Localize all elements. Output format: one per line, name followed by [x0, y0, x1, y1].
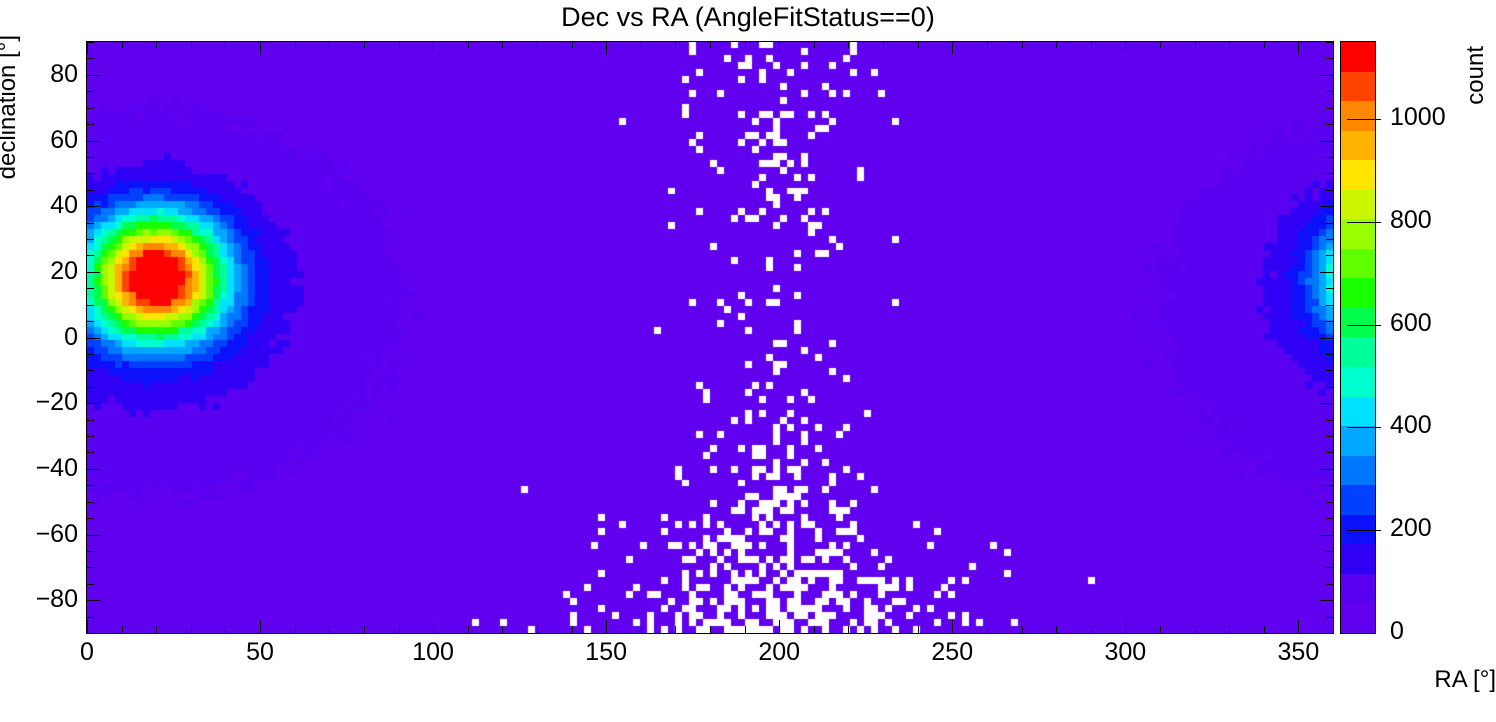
page-title: Dec vs RA (AngleFitStatus==0)	[0, 2, 1496, 33]
x-tick-minor	[1022, 626, 1023, 633]
y-tick-minor	[87, 255, 94, 256]
y-tick-minor-right	[1326, 223, 1333, 224]
y-tick-major-right	[1320, 338, 1333, 339]
x-tick-minor-top	[572, 41, 573, 48]
y-tick-minor-right	[1326, 288, 1333, 289]
y-tick-label: 60	[8, 126, 78, 155]
y-tick-minor-right	[1326, 518, 1333, 519]
y-tick-minor	[87, 420, 94, 421]
y-tick-minor	[87, 124, 94, 125]
colorbar-band	[1341, 160, 1375, 190]
colorbar-tick-label: 1000	[1390, 103, 1446, 132]
colorbar-tick	[1347, 119, 1381, 120]
y-tick-minor	[87, 108, 94, 109]
y-tick-major-right	[1320, 75, 1333, 76]
y-tick-minor	[87, 567, 94, 568]
x-tick-label: 250	[902, 638, 1002, 667]
x-tick-minor-top	[814, 41, 815, 48]
colorbar-tick-label: 400	[1390, 411, 1432, 440]
y-tick-minor	[87, 157, 94, 158]
x-tick-minor	[122, 626, 123, 633]
y-tick-minor	[87, 239, 94, 240]
x-tick-minor-top	[1333, 41, 1334, 48]
x-tick-minor-top	[1022, 41, 1023, 48]
x-tick-minor	[1056, 626, 1057, 633]
x-tick-major	[1125, 620, 1126, 633]
x-tick-minor	[468, 626, 469, 633]
colorbar-tick-label: 800	[1390, 206, 1432, 235]
x-tick-minor-top	[122, 41, 123, 48]
x-tick-label: 350	[1248, 638, 1348, 667]
y-tick-minor-right	[1326, 387, 1333, 388]
x-tick-minor	[918, 626, 919, 633]
y-tick-minor-right	[1326, 173, 1333, 174]
y-tick-label: −80	[8, 585, 78, 614]
y-tick-minor-right	[1326, 584, 1333, 585]
y-tick-minor-right	[1326, 91, 1333, 92]
x-tick-minor-top	[675, 41, 676, 48]
y-tick-minor	[87, 452, 94, 453]
y-tick-minor-right	[1326, 502, 1333, 503]
y-tick-minor	[87, 584, 94, 585]
x-tick-major-top	[433, 41, 434, 54]
x-tick-minor-top	[468, 41, 469, 48]
x-tick-minor-top	[641, 41, 642, 48]
y-tick-minor	[87, 190, 94, 191]
x-tick-label: 50	[210, 638, 310, 667]
y-tick-label: −40	[8, 454, 78, 483]
y-tick-minor	[87, 617, 94, 618]
x-tick-minor	[814, 626, 815, 633]
x-tick-major-top	[606, 41, 607, 54]
x-tick-minor-top	[918, 41, 919, 48]
x-axis-title: RA [°]	[162, 666, 1496, 694]
colorbar-band	[1341, 308, 1375, 338]
x-tick-major	[779, 620, 780, 633]
x-tick-minor-top	[1091, 41, 1092, 48]
y-tick-minor-right	[1326, 108, 1333, 109]
colorbar-band	[1341, 278, 1375, 308]
colorbar-tick-label: 600	[1390, 309, 1432, 338]
x-tick-major	[952, 620, 953, 633]
x-tick-minor	[1091, 626, 1092, 633]
x-tick-minor-top	[156, 41, 157, 48]
x-tick-minor-top	[191, 41, 192, 48]
x-tick-minor-top	[225, 41, 226, 48]
y-tick-minor	[87, 502, 94, 503]
colorbar-tick	[1347, 325, 1381, 326]
x-tick-minor-top	[987, 41, 988, 48]
x-tick-major	[87, 620, 88, 633]
x-tick-minor	[329, 626, 330, 633]
x-tick-minor	[848, 626, 849, 633]
colorbar-tick	[1347, 530, 1381, 531]
colorbar-tick	[1347, 222, 1381, 223]
x-tick-minor-top	[1264, 41, 1265, 48]
colorbar-band	[1341, 42, 1375, 72]
y-tick-major-right	[1320, 403, 1333, 404]
y-tick-minor-right	[1326, 617, 1333, 618]
y-tick-minor-right	[1326, 420, 1333, 421]
y-tick-major-right	[1320, 272, 1333, 273]
colorbar-tick	[1347, 427, 1381, 428]
x-tick-minor	[1160, 626, 1161, 633]
y-tick-minor	[87, 387, 94, 388]
y-tick-major	[87, 338, 100, 339]
y-tick-minor	[87, 436, 94, 437]
x-tick-minor-top	[710, 41, 711, 48]
x-tick-major	[260, 620, 261, 633]
x-tick-minor	[502, 626, 503, 633]
colorbar-band	[1341, 426, 1375, 456]
y-tick-major-right	[1320, 535, 1333, 536]
y-tick-minor-right	[1326, 239, 1333, 240]
y-tick-minor-right	[1326, 567, 1333, 568]
x-tick-minor-top	[502, 41, 503, 48]
y-tick-minor	[87, 485, 94, 486]
y-tick-major-right	[1320, 141, 1333, 142]
colorbar-title: count	[1462, 46, 1490, 105]
x-tick-label: 300	[1075, 638, 1175, 667]
y-tick-label: 40	[8, 191, 78, 220]
x-tick-minor-top	[399, 41, 400, 48]
y-tick-major	[87, 75, 100, 76]
y-tick-major	[87, 535, 100, 536]
y-tick-minor	[87, 354, 94, 355]
y-tick-minor-right	[1326, 436, 1333, 437]
x-tick-major	[606, 620, 607, 633]
y-tick-minor	[87, 551, 94, 552]
y-tick-major	[87, 141, 100, 142]
x-tick-minor	[191, 626, 192, 633]
x-tick-minor	[710, 626, 711, 633]
y-tick-minor-right	[1326, 305, 1333, 306]
colorbar-band	[1341, 485, 1375, 515]
colorbar-band	[1341, 574, 1375, 604]
plot-frame	[86, 41, 1334, 634]
y-tick-minor	[87, 173, 94, 174]
y-tick-minor	[87, 321, 94, 322]
x-tick-major-top	[260, 41, 261, 54]
y-tick-major-right	[1320, 469, 1333, 470]
x-tick-minor	[1229, 626, 1230, 633]
y-tick-minor	[87, 58, 94, 59]
y-tick-minor	[87, 288, 94, 289]
x-tick-minor	[641, 626, 642, 633]
y-tick-label: −20	[8, 388, 78, 417]
colorbar-band	[1341, 367, 1375, 397]
y-tick-minor-right	[1326, 370, 1333, 371]
x-tick-minor	[364, 626, 365, 633]
y-tick-major-right	[1320, 600, 1333, 601]
y-tick-minor	[87, 633, 94, 634]
y-tick-label: 0	[8, 323, 78, 352]
y-tick-major	[87, 272, 100, 273]
x-tick-minor-top	[364, 41, 365, 48]
x-tick-minor-top	[1160, 41, 1161, 48]
x-tick-minor	[537, 626, 538, 633]
colorbar-band	[1341, 131, 1375, 161]
x-tick-minor-top	[1195, 41, 1196, 48]
colorbar-band	[1341, 249, 1375, 279]
x-tick-minor	[675, 626, 676, 633]
colorbar-tick-label: 0	[1390, 617, 1404, 646]
y-tick-minor	[87, 518, 94, 519]
y-tick-major	[87, 206, 100, 207]
y-tick-minor	[87, 370, 94, 371]
y-tick-minor	[87, 223, 94, 224]
x-tick-major-top	[1298, 41, 1299, 54]
y-tick-minor-right	[1326, 124, 1333, 125]
colorbar-tick-label: 200	[1390, 514, 1432, 543]
y-tick-minor-right	[1326, 551, 1333, 552]
x-tick-label: 150	[556, 638, 656, 667]
x-tick-label: 0	[37, 638, 137, 667]
x-tick-major-top	[952, 41, 953, 54]
colorbar-band	[1341, 337, 1375, 367]
x-tick-minor-top	[1056, 41, 1057, 48]
x-tick-minor-top	[883, 41, 884, 48]
y-tick-minor-right	[1326, 354, 1333, 355]
x-tick-major	[433, 620, 434, 633]
x-tick-minor	[156, 626, 157, 633]
colorbar-band	[1341, 544, 1375, 574]
x-tick-major-top	[1125, 41, 1126, 54]
x-tick-minor-top	[745, 41, 746, 48]
colorbar-band	[1341, 456, 1375, 486]
x-tick-minor-top	[329, 41, 330, 48]
x-tick-label: 100	[383, 638, 483, 667]
colorbar-band	[1341, 72, 1375, 102]
y-tick-minor	[87, 91, 94, 92]
y-tick-major	[87, 600, 100, 601]
x-tick-minor-top	[537, 41, 538, 48]
y-tick-major	[87, 469, 100, 470]
x-tick-minor-top	[848, 41, 849, 48]
y-tick-minor-right	[1326, 58, 1333, 59]
colorbar-band	[1341, 101, 1375, 131]
x-tick-minor	[572, 626, 573, 633]
y-tick-major	[87, 403, 100, 404]
y-tick-minor	[87, 305, 94, 306]
y-tick-minor-right	[1326, 633, 1333, 634]
colorbar-band	[1341, 603, 1375, 633]
x-tick-minor	[1264, 626, 1265, 633]
y-tick-minor-right	[1326, 452, 1333, 453]
colorbar-band	[1341, 397, 1375, 427]
colorbar	[1340, 41, 1376, 634]
x-tick-minor	[399, 626, 400, 633]
y-tick-minor-right	[1326, 42, 1333, 43]
y-tick-label: −60	[8, 520, 78, 549]
x-tick-minor	[987, 626, 988, 633]
x-tick-minor	[745, 626, 746, 633]
y-tick-minor-right	[1326, 321, 1333, 322]
y-tick-minor-right	[1326, 485, 1333, 486]
y-axis-title: declination [°]	[0, 35, 22, 179]
x-tick-major-top	[779, 41, 780, 54]
x-tick-minor	[1333, 626, 1334, 633]
x-tick-major	[1298, 620, 1299, 633]
y-tick-label: 80	[8, 60, 78, 89]
y-tick-minor-right	[1326, 190, 1333, 191]
y-tick-label: 20	[8, 257, 78, 286]
y-tick-minor	[87, 42, 94, 43]
x-tick-minor	[1195, 626, 1196, 633]
y-tick-minor-right	[1326, 157, 1333, 158]
x-tick-minor-top	[1229, 41, 1230, 48]
x-tick-minor	[883, 626, 884, 633]
x-tick-minor	[225, 626, 226, 633]
x-tick-minor-top	[295, 41, 296, 48]
colorbar-band	[1341, 190, 1375, 220]
y-tick-major-right	[1320, 206, 1333, 207]
x-tick-label: 200	[729, 638, 829, 667]
chart-root: Dec vs RA (AngleFitStatus==0) RA [°] dec…	[0, 0, 1496, 722]
colorbar-band	[1341, 219, 1375, 249]
histogram-canvas	[87, 42, 1333, 633]
x-tick-minor	[295, 626, 296, 633]
y-tick-minor-right	[1326, 255, 1333, 256]
